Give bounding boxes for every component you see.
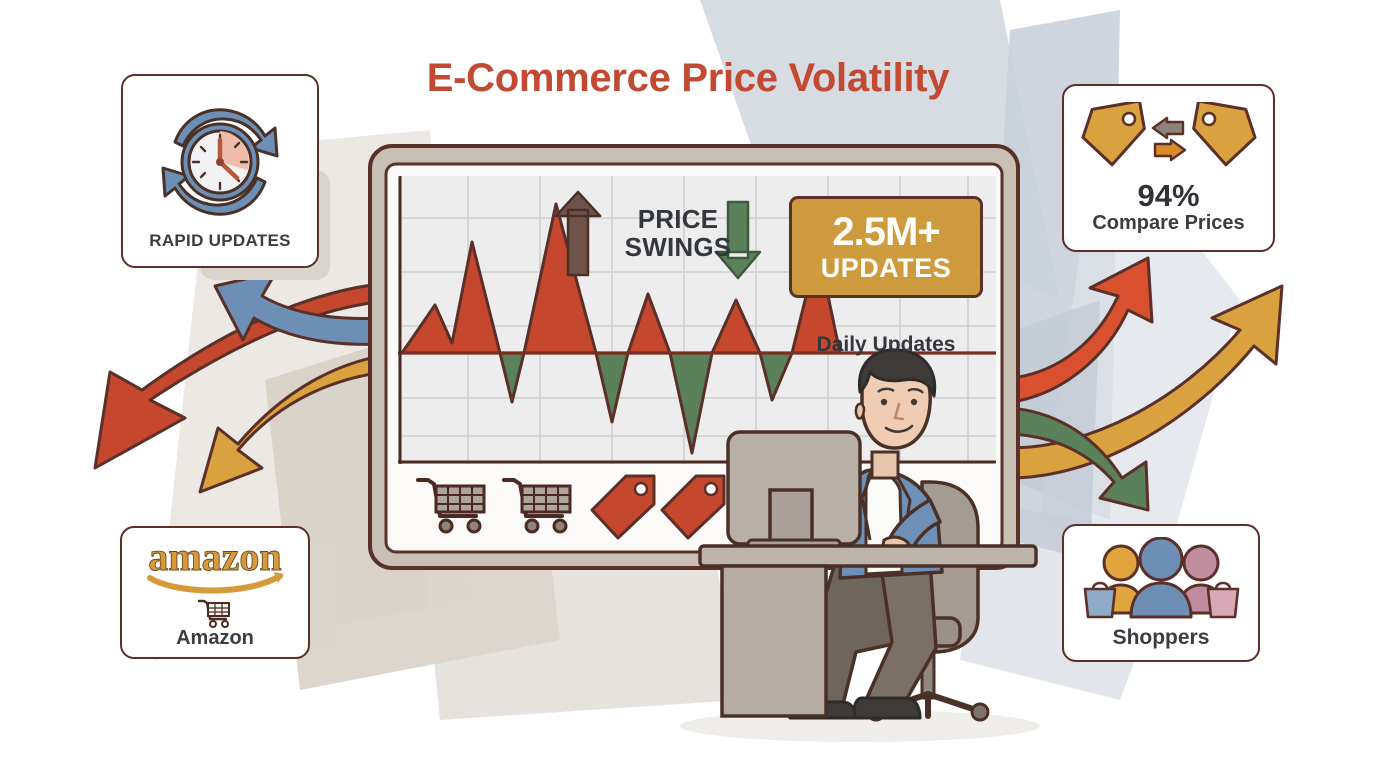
amazon-wordmark-text: amazon <box>148 536 281 579</box>
card-shoppers-label: Shoppers <box>1113 627 1210 649</box>
updates-badge: 2.5M+ UPDATES <box>789 196 983 298</box>
card-compare-label: Compare Prices <box>1092 213 1244 234</box>
swings-line-2: SWINGS <box>608 233 748 261</box>
swings-line-1: PRICE <box>608 205 748 233</box>
arrow-up-right-red <box>1012 258 1152 402</box>
card-shoppers[interactable]: Shoppers <box>1062 524 1260 662</box>
amazon-wordmark: amazon <box>130 536 300 598</box>
shopping-cart-icon <box>198 598 232 628</box>
updates-badge-value: 2.5M+ <box>832 212 939 252</box>
clock-refresh-icon <box>145 98 295 226</box>
price-swings-annotation: PRICE SWINGS <box>608 205 748 261</box>
card-compare-prices[interactable]: 94% Compare Prices <box>1062 84 1275 252</box>
updates-badge-caption: Daily Updates <box>789 333 983 357</box>
shopper-group-icon <box>1075 537 1247 625</box>
compare-percent-value: 94% <box>1137 180 1199 211</box>
card-rapid-updates[interactable]: RAPID UPDATES <box>121 74 319 268</box>
infographic-canvas: E-Commerce Price Volatility PRICE SWINGS… <box>0 0 1376 768</box>
card-amazon-label: Amazon <box>176 628 254 649</box>
desk-monitor-illustration <box>728 432 860 550</box>
updates-badge-unit: UPDATES <box>821 255 952 282</box>
price-tag-exchange-icon <box>1079 102 1259 176</box>
card-rapid-label: RAPID UPDATES <box>149 232 291 250</box>
card-amazon[interactable]: amazon Amazon <box>120 526 310 659</box>
